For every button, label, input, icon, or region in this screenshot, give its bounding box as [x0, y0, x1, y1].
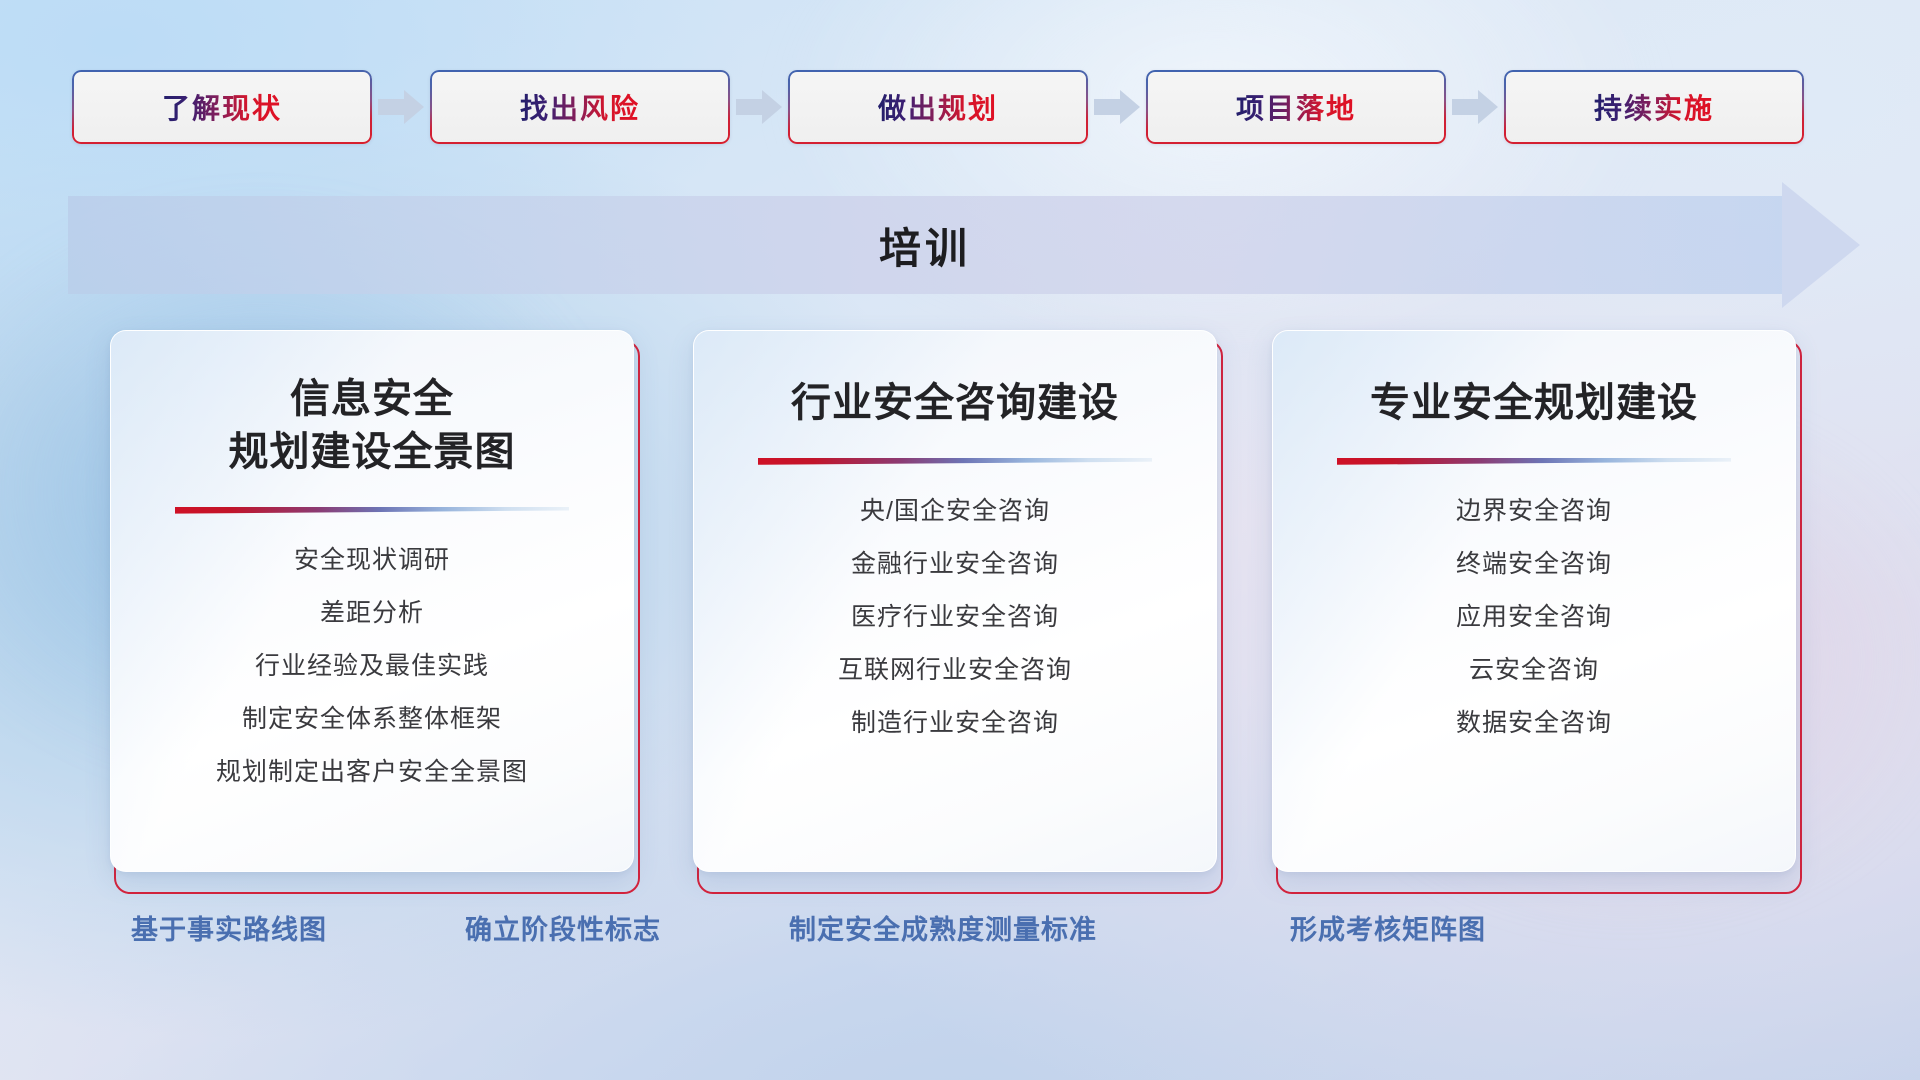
list-item: 云安全咨询	[1456, 658, 1612, 683]
card-3-list: 边界安全咨询 终端安全咨询 应用安全咨询 云安全咨询 数据安全咨询	[1456, 499, 1612, 736]
list-item: 边界安全咨询	[1456, 499, 1612, 524]
list-item: 安全现状调研	[216, 548, 528, 573]
background-glow-top	[768, 0, 1668, 360]
step-label-2: 找出风险	[520, 87, 640, 127]
list-item: 金融行业安全咨询	[838, 552, 1072, 577]
step-3[interactable]: 做出规划	[788, 70, 1088, 144]
process-steps: 了解现状 找出风险 做出规划 项目落地	[0, 68, 1920, 146]
list-item: 终端安全咨询	[1456, 552, 1612, 577]
banner-arrow-right-icon	[1782, 182, 1860, 308]
footer-label-1: 基于事实路线图	[131, 908, 327, 947]
step-box-4[interactable]: 项目落地	[1146, 70, 1446, 144]
step-label-5: 持续实施	[1594, 87, 1714, 127]
card-3-title: 专业安全规划建设	[1370, 377, 1698, 430]
arrow-right-icon	[1446, 70, 1504, 144]
step-4[interactable]: 项目落地	[1146, 70, 1446, 144]
list-item: 应用安全咨询	[1456, 605, 1612, 630]
step-label-1: 了解现状	[162, 87, 282, 127]
list-item: 制造行业安全咨询	[838, 711, 1072, 736]
card-1-list: 安全现状调研 差距分析 行业经验及最佳实践 制定安全体系整体框架 规划制定出客户…	[216, 548, 528, 785]
footer-label-2: 确立阶段性标志	[465, 908, 661, 947]
list-item: 医疗行业安全咨询	[838, 605, 1072, 630]
card-2[interactable]: 行业安全咨询建设 央/国企安全咨询 金融行业安全咨询 医疗行业安全咨询 互联网行…	[693, 330, 1223, 890]
card-1-body[interactable]: 信息安全 规划建设全景图 安全现状调研 差距分析 行业经验及最佳实践 制定安全体…	[110, 330, 634, 872]
step-box-1[interactable]: 了解现状	[72, 70, 372, 144]
training-banner: 培训	[68, 196, 1858, 294]
step-box-5[interactable]: 持续实施	[1504, 70, 1804, 144]
list-item: 央/国企安全咨询	[838, 499, 1072, 524]
banner-title: 培训	[68, 196, 1782, 294]
step-2[interactable]: 找出风险	[430, 70, 730, 144]
card-2-body[interactable]: 行业安全咨询建设 央/国企安全咨询 金融行业安全咨询 医疗行业安全咨询 互联网行…	[693, 330, 1217, 872]
footer-label-4: 形成考核矩阵图	[1290, 908, 1486, 947]
list-item: 行业经验及最佳实践	[216, 654, 528, 679]
step-1[interactable]: 了解现状	[72, 70, 372, 144]
card-2-divider	[758, 458, 1152, 465]
arrow-right-icon	[730, 70, 788, 144]
list-item: 数据安全咨询	[1456, 711, 1612, 736]
step-label-3: 做出规划	[878, 87, 998, 127]
list-item: 规划制定出客户安全全景图	[216, 760, 528, 785]
card-3-body[interactable]: 专业安全规划建设 边界安全咨询 终端安全咨询 应用安全咨询 云安全咨询 数据安全…	[1272, 330, 1796, 872]
card-1-title: 信息安全 规划建设全景图	[229, 373, 516, 479]
step-5[interactable]: 持续实施	[1504, 70, 1804, 144]
footer-outcomes: 基于事实路线图 确立阶段性标志 制定安全成熟度测量标准 形成考核矩阵图	[0, 908, 1920, 968]
service-cards: 信息安全 规划建设全景图 安全现状调研 差距分析 行业经验及最佳实践 制定安全体…	[0, 330, 1920, 890]
card-2-list: 央/国企安全咨询 金融行业安全咨询 医疗行业安全咨询 互联网行业安全咨询 制造行…	[838, 499, 1072, 736]
arrow-right-icon	[1088, 70, 1146, 144]
list-item: 制定安全体系整体框架	[216, 707, 528, 732]
card-1-divider	[175, 507, 569, 514]
step-box-2[interactable]: 找出风险	[430, 70, 730, 144]
card-3[interactable]: 专业安全规划建设 边界安全咨询 终端安全咨询 应用安全咨询 云安全咨询 数据安全…	[1272, 330, 1802, 890]
card-2-title: 行业安全咨询建设	[791, 377, 1119, 430]
card-1[interactable]: 信息安全 规划建设全景图 安全现状调研 差距分析 行业经验及最佳实践 制定安全体…	[110, 330, 640, 890]
list-item: 差距分析	[216, 601, 528, 626]
footer-label-3: 制定安全成熟度测量标准	[789, 908, 1097, 947]
arrow-right-icon	[372, 70, 430, 144]
card-3-divider	[1337, 458, 1731, 465]
step-label-4: 项目落地	[1236, 87, 1356, 127]
list-item: 互联网行业安全咨询	[838, 658, 1072, 683]
step-box-3[interactable]: 做出规划	[788, 70, 1088, 144]
